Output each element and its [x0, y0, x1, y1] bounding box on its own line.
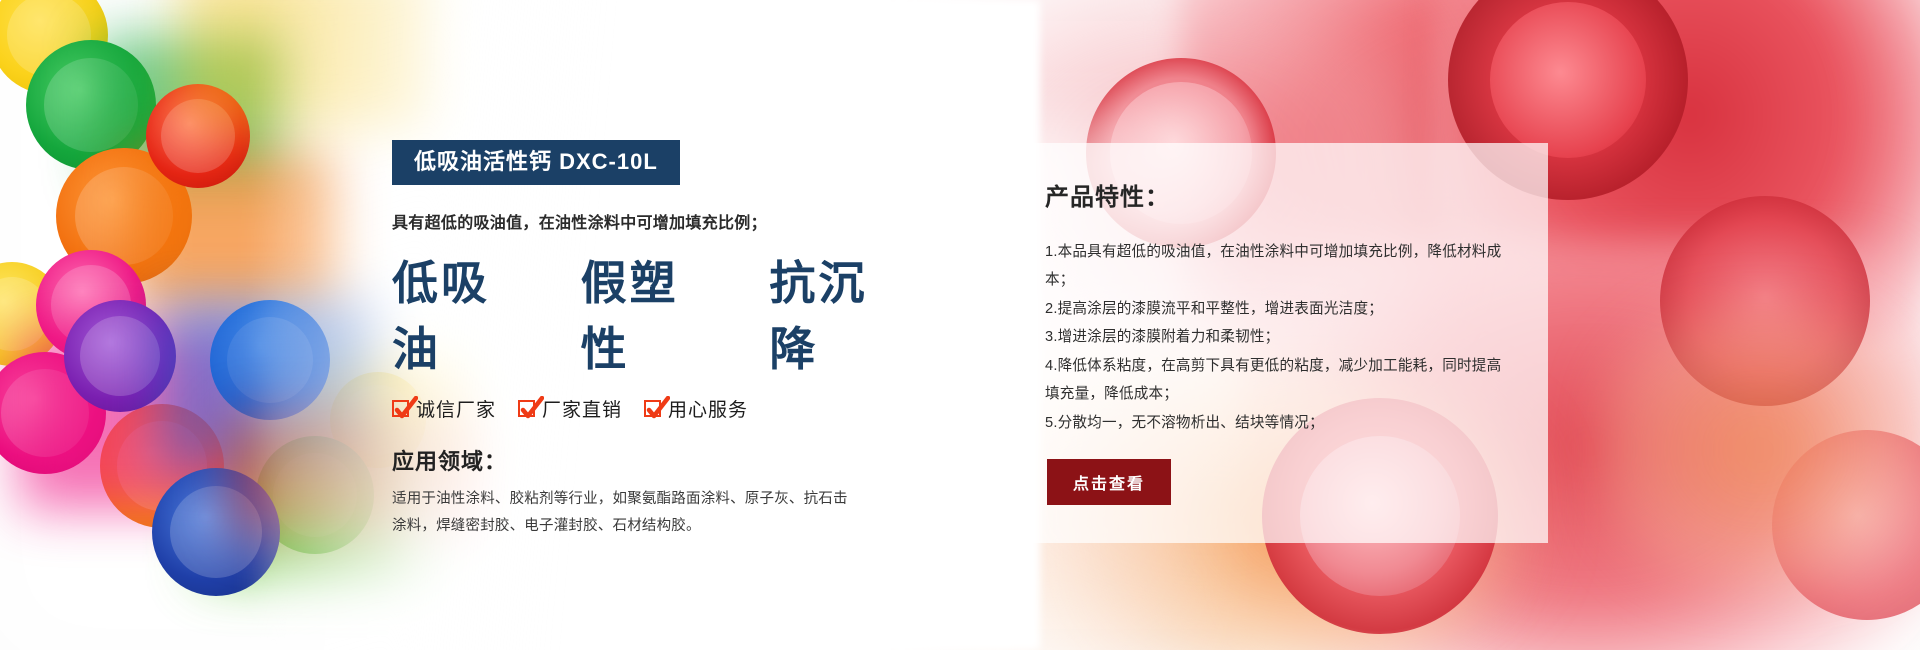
- feature-item: 1.本品具有超低的吸油值，在油性涂料中可增加填充比例，降低材料成本；: [1045, 238, 1510, 295]
- application-field-description: 适用于油性涂料、胶粘剂等行业，如聚氨酯路面涂料、原子灰、抗石击涂料，焊缝密封胶、…: [392, 486, 862, 540]
- trust-badge-row: 诚信厂家 厂家直销 用心服务: [392, 395, 912, 422]
- product-features-panel: 产品特性： 1.本品具有超低的吸油值，在油性涂料中可增加填充比例，降低材料成本；…: [1003, 143, 1548, 543]
- product-tagline: 具有超低的吸油值，在油性涂料中可增加填充比例；: [392, 209, 912, 233]
- feature-item: 5.分散均一，无不溶物析出、结块等情况；: [1045, 409, 1510, 437]
- product-name-badge: 低吸油活性钙 DXC-10L: [392, 140, 680, 185]
- product-banner: 低吸油活性钙 DXC-10L 具有超低的吸油值，在油性涂料中可增加填充比例； 低…: [0, 0, 1920, 650]
- trust-badge-0: 诚信厂家: [392, 395, 496, 422]
- paint-background-artwork: [0, 0, 1920, 650]
- left-content-column: 低吸油活性钙 DXC-10L 具有超低的吸油值，在油性涂料中可增加填充比例； 低…: [392, 140, 912, 540]
- features-list: 1.本品具有超低的吸油值，在油性涂料中可增加填充比例，降低材料成本； 2.提高涂…: [1045, 238, 1510, 437]
- checkmark-icon: [644, 400, 661, 417]
- trust-badge-label-1: 厂家直销: [542, 395, 622, 422]
- view-details-button[interactable]: 点击查看: [1047, 459, 1171, 505]
- feature-item: 2.提高涂层的漆膜流平和平整性，增进表面光洁度；: [1045, 295, 1510, 323]
- checkmark-icon: [392, 400, 409, 417]
- trust-badge-2: 用心服务: [644, 395, 748, 422]
- features-panel-title: 产品特性：: [1045, 177, 1510, 212]
- application-field-title: 应用领域：: [392, 444, 912, 476]
- trust-badge-label-2: 用心服务: [668, 395, 748, 422]
- feature-item: 4.降低体系粘度，在高剪下具有更低的粘度，减少加工能耗，同时提高填充量，降低成本…: [1045, 352, 1510, 409]
- keyword-0: 低吸油: [392, 247, 535, 379]
- trust-badge-1: 厂家直销: [518, 395, 622, 422]
- keyword-2: 抗沉降: [769, 247, 912, 379]
- feature-item: 3.增进涂层的漆膜附着力和柔韧性；: [1045, 323, 1510, 351]
- keyword-row: 低吸油 假塑性 抗沉降: [392, 247, 912, 379]
- keyword-1: 假塑性: [581, 247, 724, 379]
- checkmark-icon: [518, 400, 535, 417]
- trust-badge-label-0: 诚信厂家: [416, 395, 496, 422]
